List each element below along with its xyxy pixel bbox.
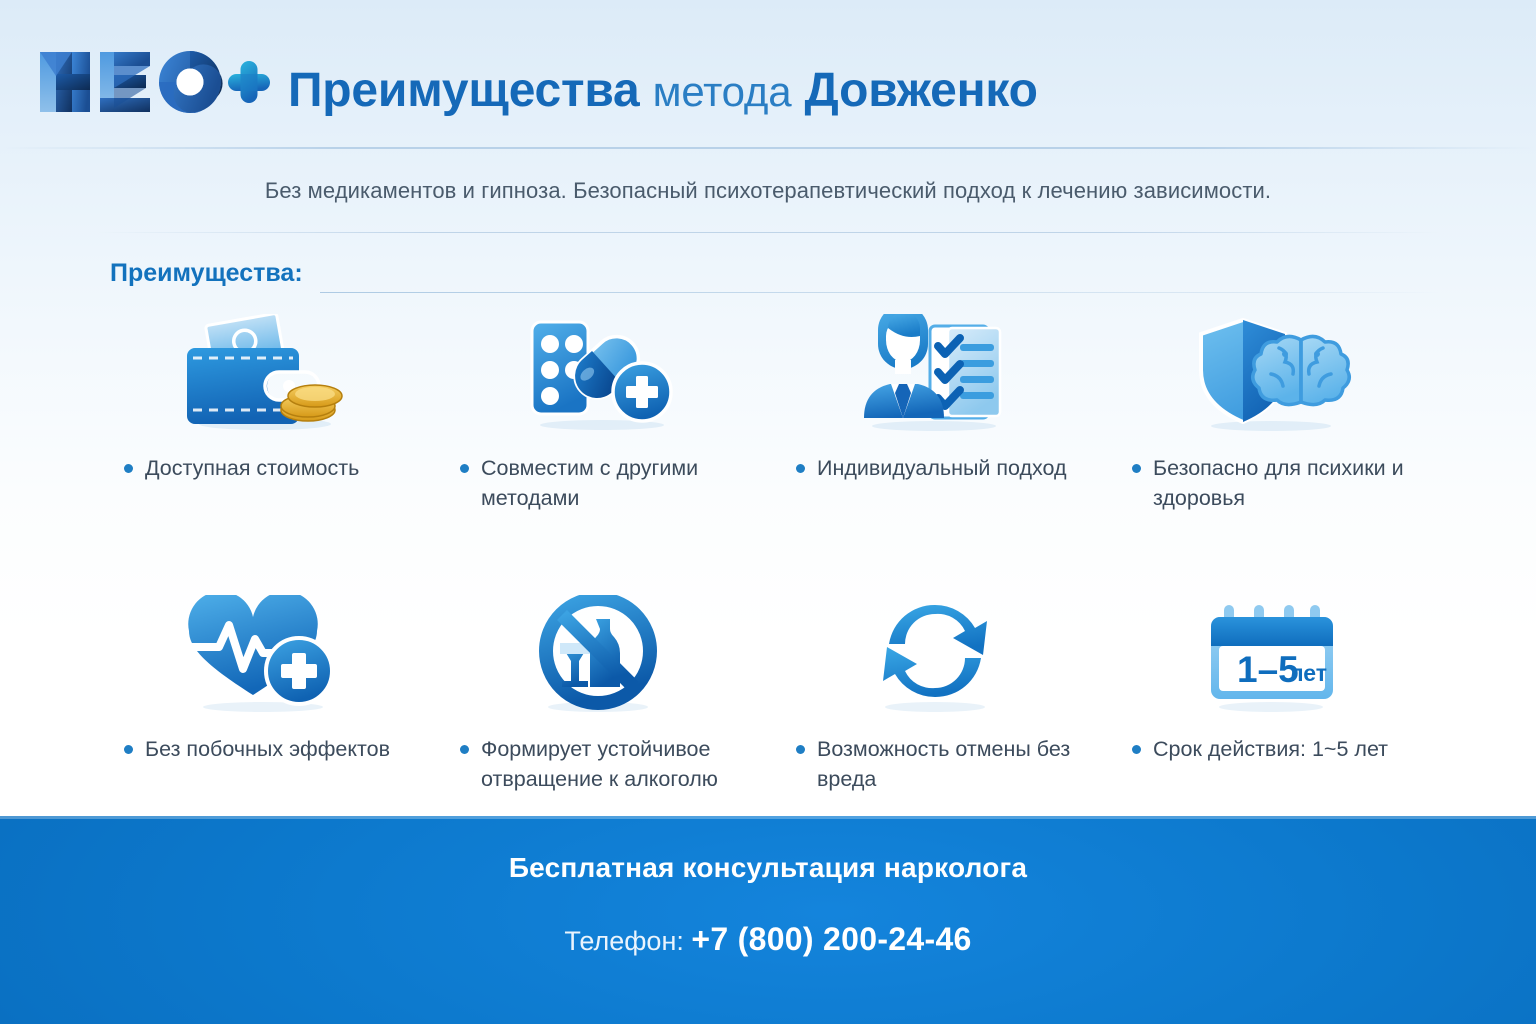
bullet-dot xyxy=(460,745,469,754)
bullet-dot xyxy=(460,464,469,473)
benefit-label-1: Доступная стоимость xyxy=(102,453,426,483)
benefit-label-5: Без побочных эффектов xyxy=(102,734,426,764)
benefit-text: Совместим с другими методами xyxy=(481,453,743,513)
benefit-label-8: Срок действия: 1~5 лет xyxy=(1110,734,1434,764)
page-title-part-1: Преимущества xyxy=(288,64,640,117)
infographic-poster: Преимущества метода Довженко Без медикам… xyxy=(0,0,1536,1024)
neo-plus-logo-graphic xyxy=(38,46,270,118)
benefit-item-2: Совместим с другими методами xyxy=(432,306,768,513)
bullet-dot xyxy=(124,464,133,473)
benefit-text: Срок действия: 1~5 лет xyxy=(1153,734,1388,764)
bullet-dot xyxy=(796,464,805,473)
bullet-dot xyxy=(1132,464,1141,473)
header: Преимущества метода Довженко xyxy=(0,0,1536,148)
benefit-label-4: Безопасно для психики и здоровья xyxy=(1110,453,1434,513)
benefit-label-7: Возможность отмены без вреда xyxy=(774,734,1098,794)
pills-medical-cross-icon xyxy=(438,306,762,436)
benefits-row-1: Доступная стоимость xyxy=(96,306,1440,513)
neo-plus-logo xyxy=(38,46,270,118)
benefit-item-5: Без побочных эффектов xyxy=(96,587,432,794)
benefit-text: Возможность отмены без вреда xyxy=(817,734,1079,794)
benefit-text: Без побочных эффектов xyxy=(145,734,390,764)
refresh-arrows-icon xyxy=(774,587,1098,717)
footer-cta-band: Бесплатная консультация нарколога Телефо… xyxy=(0,816,1536,1024)
benefit-item-6: Формирует устойчивое отвращение к алкого… xyxy=(432,587,768,794)
shield-brain-icon xyxy=(1110,306,1434,436)
no-alcohol-icon xyxy=(438,587,762,717)
page-title: Преимущества метода Довженко xyxy=(288,56,1038,127)
benefits-section-heading: Преимущества: xyxy=(110,259,303,288)
benefit-text: Формирует устойчивое отвращение к алкого… xyxy=(481,734,743,794)
benefit-label-3: Индивидуальный подход xyxy=(774,453,1098,483)
doctor-checklist-icon xyxy=(774,306,1098,436)
benefits-row-2: Без побочных эффектов xyxy=(96,587,1440,794)
benefit-label-6: Формирует устойчивое отвращение к алкого… xyxy=(438,734,762,794)
benefits-section-divider xyxy=(320,292,1440,293)
bullet-dot xyxy=(796,745,805,754)
benefit-item-7: Возможность отмены без вреда xyxy=(768,587,1104,794)
page-title-part-3: Довженко xyxy=(805,64,1038,117)
benefit-text: Безопасно для психики и здоровья xyxy=(1153,453,1415,513)
calendar-years-icon: 1–5 лет xyxy=(1110,587,1434,717)
header-divider xyxy=(0,147,1536,149)
calendar-unit: лет xyxy=(1289,660,1327,686)
subtitle-divider xyxy=(96,232,1440,233)
benefit-text: Доступная стоимость xyxy=(145,453,359,483)
bullet-dot xyxy=(124,745,133,754)
phone-number[interactable]: +7 (800) 200-24-46 xyxy=(691,921,971,957)
benefits-grid: Доступная стоимость xyxy=(96,306,1440,794)
benefit-label-2: Совместим с другими методами xyxy=(438,453,762,513)
footer-phone-line: Телефон: +7 (800) 200-24-46 xyxy=(0,921,1536,958)
benefit-item-8: 1–5 лет Срок действия: 1~5 лет xyxy=(1104,587,1440,794)
wallet-money-icon xyxy=(102,306,426,436)
bullet-dot xyxy=(1132,745,1141,754)
benefit-item-4: Безопасно для психики и здоровья xyxy=(1104,306,1440,513)
page-title-part-2: метода xyxy=(653,68,792,115)
heart-pulse-cross-icon xyxy=(102,587,426,717)
phone-label: Телефон: xyxy=(564,926,684,956)
benefit-item-1: Доступная стоимость xyxy=(96,306,432,513)
subtitle: Без медикаментов и гипноза. Безопасный п… xyxy=(0,178,1536,204)
benefit-item-3: Индивидуальный подход xyxy=(768,306,1104,513)
footer-title: Бесплатная консультация нарколога xyxy=(0,852,1536,884)
footer-top-highlight xyxy=(0,816,1536,819)
benefit-text: Индивидуальный подход xyxy=(817,453,1067,483)
